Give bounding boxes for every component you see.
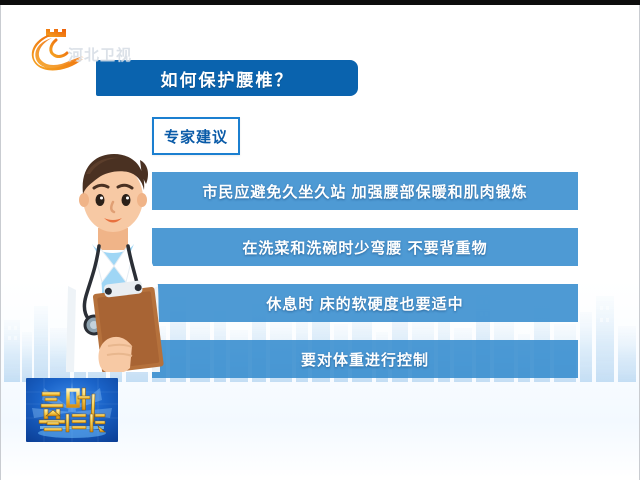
frame-edge-left [0, 5, 1, 480]
list-item: 在洗菜和洗碗时少弯腰 不要背重物 [152, 228, 578, 266]
page-title: 如何保护腰椎？ [161, 66, 294, 91]
list-item: 要对体重进行控制 [152, 340, 578, 378]
advice-row-text: 休息时 床的软硬度也要适中 [266, 293, 463, 314]
broadcast-frame: 河北卫视 如何保护腰椎？ 专家建议 市民应避免久坐久站 加强腰部保暖和肌肉锻炼 … [0, 0, 640, 480]
advice-row-text: 在洗菜和洗碗时少弯腰 不要背重物 [242, 237, 487, 258]
advice-list: 市民应避免久坐久站 加强腰部保暖和肌肉锻炼 在洗菜和洗碗时少弯腰 不要背重物 休… [152, 172, 578, 396]
advice-row-text: 要对体重进行控制 [301, 349, 429, 370]
jishi-quanbobao-program-logo: 冀时全播报 [26, 378, 118, 442]
channel-name-watermark: 河北卫视 [68, 44, 132, 65]
letterbox-top-bar [0, 0, 640, 5]
list-item: 休息时 床的软硬度也要适中 [152, 284, 578, 322]
main-title-banner: 如何保护腰椎？ [96, 60, 358, 96]
expert-advice-chip: 专家建议 [152, 117, 240, 155]
expert-advice-label: 专家建议 [164, 126, 228, 147]
list-item: 市民应避免久坐久站 加强腰部保暖和肌肉锻炼 [152, 172, 578, 210]
advice-row-text: 市民应避免久坐久站 加强腰部保暖和肌肉锻炼 [202, 181, 527, 202]
hebei-tv-dragon-wall-logo: 河北卫视 [26, 26, 134, 74]
cartoon-doctor-with-stethoscope-and-clipboard [52, 140, 174, 372]
